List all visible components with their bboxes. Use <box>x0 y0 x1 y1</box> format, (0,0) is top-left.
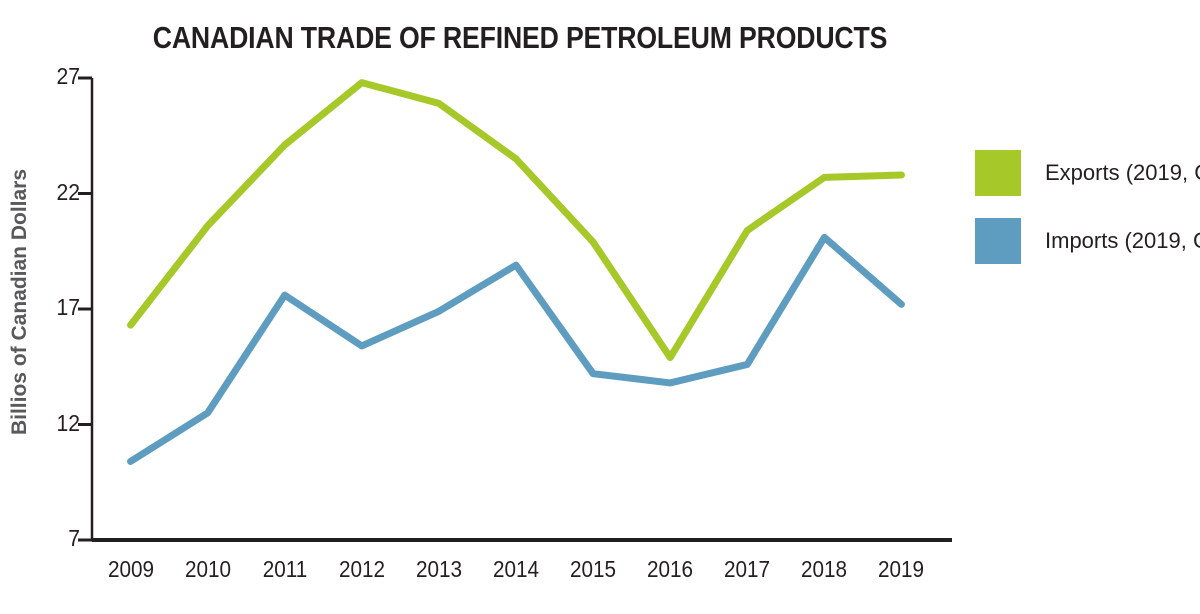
chart-legend: Exports (2019, CAImports (2019, CA <box>975 150 1200 280</box>
x-tick-label: 2017 <box>707 556 788 583</box>
x-tick-label: 2014 <box>476 556 557 583</box>
legend-label: Imports (2019, CA <box>1045 228 1200 254</box>
data-series-group <box>131 83 902 462</box>
y-axis-tick-labels: 712172227 <box>18 0 80 614</box>
y-tick-label: 12 <box>30 410 80 437</box>
x-axis-tick-labels: 2009201020112012201320142015201620172018… <box>0 556 1200 596</box>
axis-lines <box>92 78 952 540</box>
legend-swatch-icon <box>975 150 1021 196</box>
y-tick-label: 27 <box>30 63 80 90</box>
chart-container: CANADIAN TRADE OF REFINED PETROLEUM PROD… <box>0 0 1200 614</box>
x-tick-label: 2010 <box>167 556 248 583</box>
series-line-imports <box>131 237 902 461</box>
axis-ticks <box>78 78 92 540</box>
x-tick-label: 2019 <box>861 556 942 583</box>
x-tick-label: 2011 <box>244 556 325 583</box>
legend-swatch-icon <box>975 218 1021 264</box>
y-tick-label: 7 <box>30 525 80 552</box>
legend-label: Exports (2019, CA <box>1045 160 1200 186</box>
x-tick-label: 2015 <box>553 556 634 583</box>
plot-area <box>0 0 1200 614</box>
x-tick-label: 2012 <box>321 556 402 583</box>
y-tick-label: 22 <box>30 179 80 206</box>
x-tick-label: 2009 <box>90 556 171 583</box>
x-tick-label: 2013 <box>398 556 479 583</box>
x-tick-label: 2018 <box>784 556 865 583</box>
x-tick-label: 2016 <box>630 556 711 583</box>
y-tick-label: 17 <box>30 294 80 321</box>
series-line-exports <box>131 83 902 358</box>
legend-item[interactable]: Imports (2019, CA <box>975 218 1200 264</box>
legend-item[interactable]: Exports (2019, CA <box>975 150 1200 196</box>
